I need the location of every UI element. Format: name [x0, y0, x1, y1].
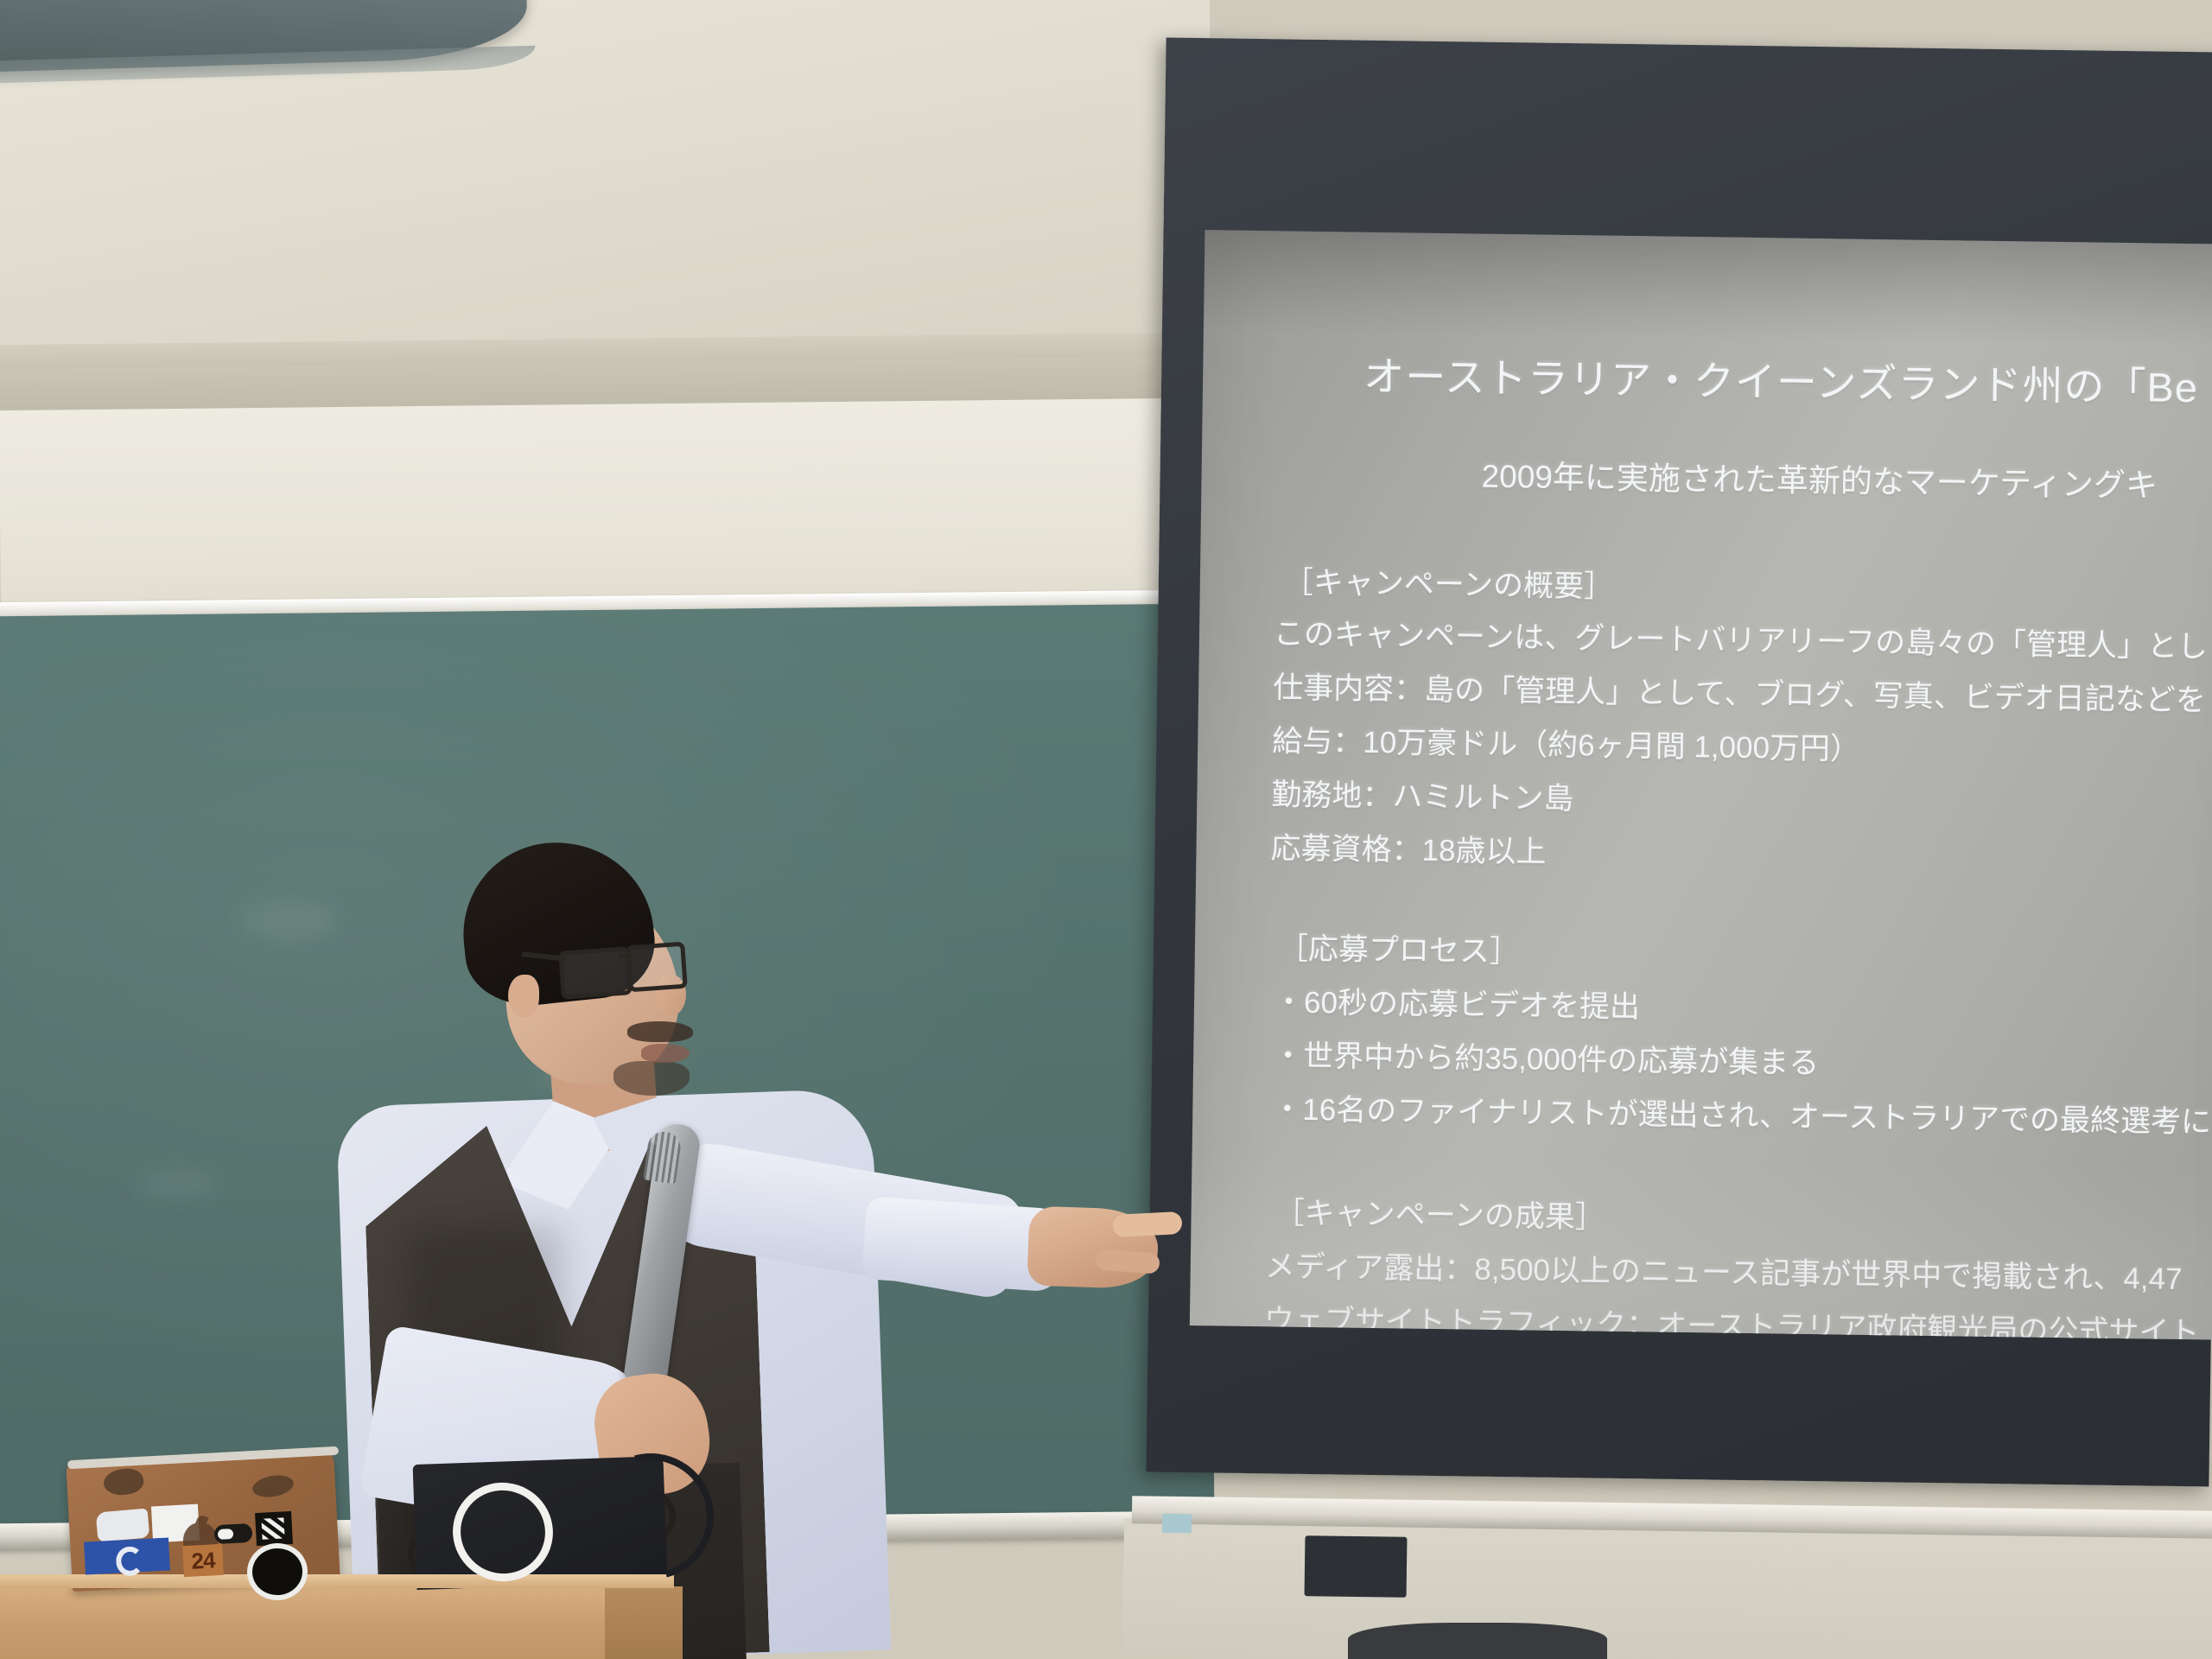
- podium: [0, 1581, 665, 1659]
- slide-line-process-1: ・60秒の応募ビデオを提出: [1274, 977, 1641, 1027]
- sticker-striped-dark: [255, 1511, 293, 1546]
- presenter-middle-finger: [1095, 1249, 1160, 1274]
- sticker-pill-dark: [213, 1523, 252, 1544]
- slide-line-results-1: メディア露出：8,500以上のニュース記事が世界中で掲載され、4,47: [1264, 1242, 2182, 1299]
- slide-line-overview-3: 給与：10万豪ドル（約6ヶ月間 1,000万円）: [1272, 716, 1860, 768]
- projection-screen-frame: オーストラリア・クイーンズランド州の「Be 2009年に実施された革新的なマーケ…: [1146, 37, 2212, 1486]
- chalk-smudge: [139, 1167, 217, 1199]
- presenter-mouth: [641, 1044, 690, 1063]
- screen-top-shadow: [1204, 230, 2212, 348]
- presenter-index-finger: [1112, 1211, 1182, 1237]
- sticker-blue-logo: [84, 1537, 170, 1574]
- slide-section-heading-overview: ［キャンペーンの概要］: [1283, 557, 1615, 606]
- slide-section-heading-results: ［キャンペーンの成果］: [1274, 1188, 1605, 1236]
- slide-line-process-2: ・世界中から約35,000件の応募が集まる: [1273, 1031, 1820, 1083]
- slide-section-heading-process: ［応募プロセス］: [1278, 924, 1521, 971]
- foreground-object: [1348, 1623, 1607, 1659]
- podium-top-surface: [0, 1574, 674, 1588]
- eyeglasses-bridge: [619, 954, 632, 958]
- slide-subtitle: 2009年に実施された革新的なマーケティングキ: [1481, 450, 2158, 506]
- sticker-number-badge: 24: [182, 1544, 224, 1577]
- chalk-smudge: [240, 898, 336, 942]
- slide-line-overview-2: 仕事内容：島の「管理人」として、ブログ、写真、ビデオ日記などを: [1273, 663, 2206, 720]
- screen-mount-bracket: [1305, 1535, 1408, 1598]
- slide-line-overview-1: このキャンペーンは、グレートバリアリーフの島々の「管理人」とし: [1274, 609, 2209, 666]
- presenter-mustache: [627, 1021, 693, 1042]
- slide-line-overview-4: 勤務地：ハミルトン島: [1271, 770, 1574, 818]
- eyeglasses-right-lens: [626, 942, 688, 993]
- presenter-chin-beard: [613, 1061, 690, 1096]
- lecture-photo-scene: オーストラリア・クイーンズランド州の「Be 2009年に実施された革新的なマーケ…: [0, 0, 2212, 1659]
- slide-line-overview-5: 応募資格：18歳以上: [1270, 823, 1547, 871]
- slide-line-process-3: ・16名のファイナリストが選出され、オーストラリアでの最終選考に: [1272, 1084, 2211, 1141]
- slide-content: オーストラリア・クイーンズランド州の「Be 2009年に実施された革新的なマーケ…: [1205, 230, 2212, 251]
- wall-below-screen: [1122, 1518, 2212, 1659]
- projection-screen-surface: オーストラリア・クイーンズランド州の「Be 2009年に実施された革新的なマーケ…: [1190, 230, 2212, 1340]
- podium-side-panel: [605, 1586, 683, 1659]
- slide-title: オーストラリア・クイーンズランド州の「Be: [1363, 343, 2199, 414]
- presenter-ear: [508, 975, 539, 1018]
- slide-line-results-2: ウェブサイトトラフィック：オーストラリア政府観光局の公式サイト: [1264, 1295, 2200, 1340]
- rail-label-tag: [1162, 1514, 1192, 1533]
- sticker-cloud-white: [96, 1508, 150, 1541]
